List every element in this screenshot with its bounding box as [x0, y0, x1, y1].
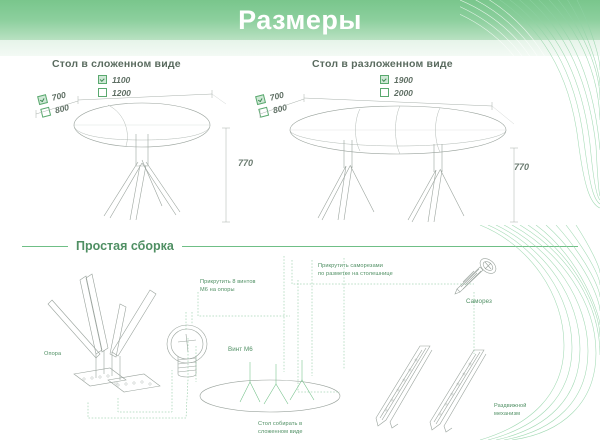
section-rule-left: [22, 246, 68, 247]
poster-page: Размеры Стол в сложенном виде 1100: [0, 0, 600, 440]
unfolded-table-drawing: [248, 70, 538, 230]
unfolded-diagram-title: Стол в разложенном виде: [312, 58, 453, 70]
folded-table-drawing: [30, 70, 260, 230]
page-title: Размеры: [0, 5, 600, 36]
section-rule-right: [182, 246, 578, 247]
unfolded-height-label: 770: [514, 162, 529, 172]
assembly-connector-lines: [0, 250, 600, 440]
header-gradient-fade: [0, 40, 600, 56]
folded-diagram-title: Стол в сложенном виде: [52, 58, 181, 70]
